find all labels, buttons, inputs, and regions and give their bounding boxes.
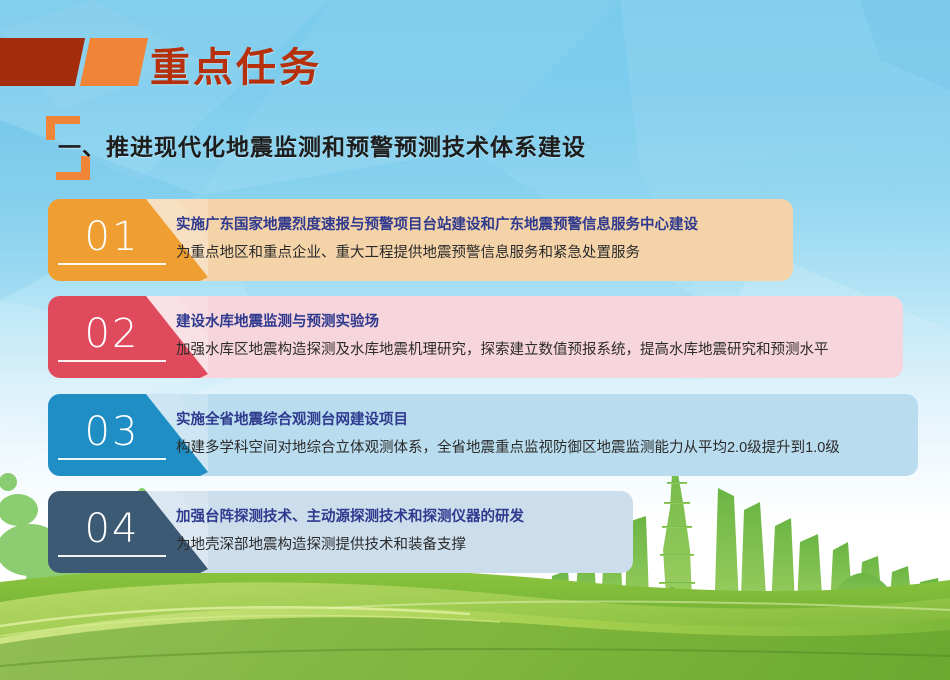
task-number-01: 01	[64, 215, 160, 259]
poster-page: 重点任务 一、推进现代化地震监测和预警预测技术体系建设 01 实施广东国家地震烈…	[0, 0, 950, 680]
task-number-rule-01	[58, 263, 166, 265]
task-number-rule-02	[58, 360, 166, 362]
header-parallelogram-orange	[80, 38, 148, 86]
task-number-04: 04	[64, 507, 160, 551]
task-number-03: 03	[64, 410, 160, 454]
task-number-rule-04	[58, 555, 166, 557]
section-subtitle: 一、推进现代化地震监测和预警预测技术体系建设	[58, 128, 586, 162]
task-number-02: 02	[64, 312, 160, 356]
header-parallelogram-dark	[0, 38, 85, 86]
task-number-rule-03	[58, 458, 166, 460]
page-title: 重点任务	[150, 35, 322, 93]
